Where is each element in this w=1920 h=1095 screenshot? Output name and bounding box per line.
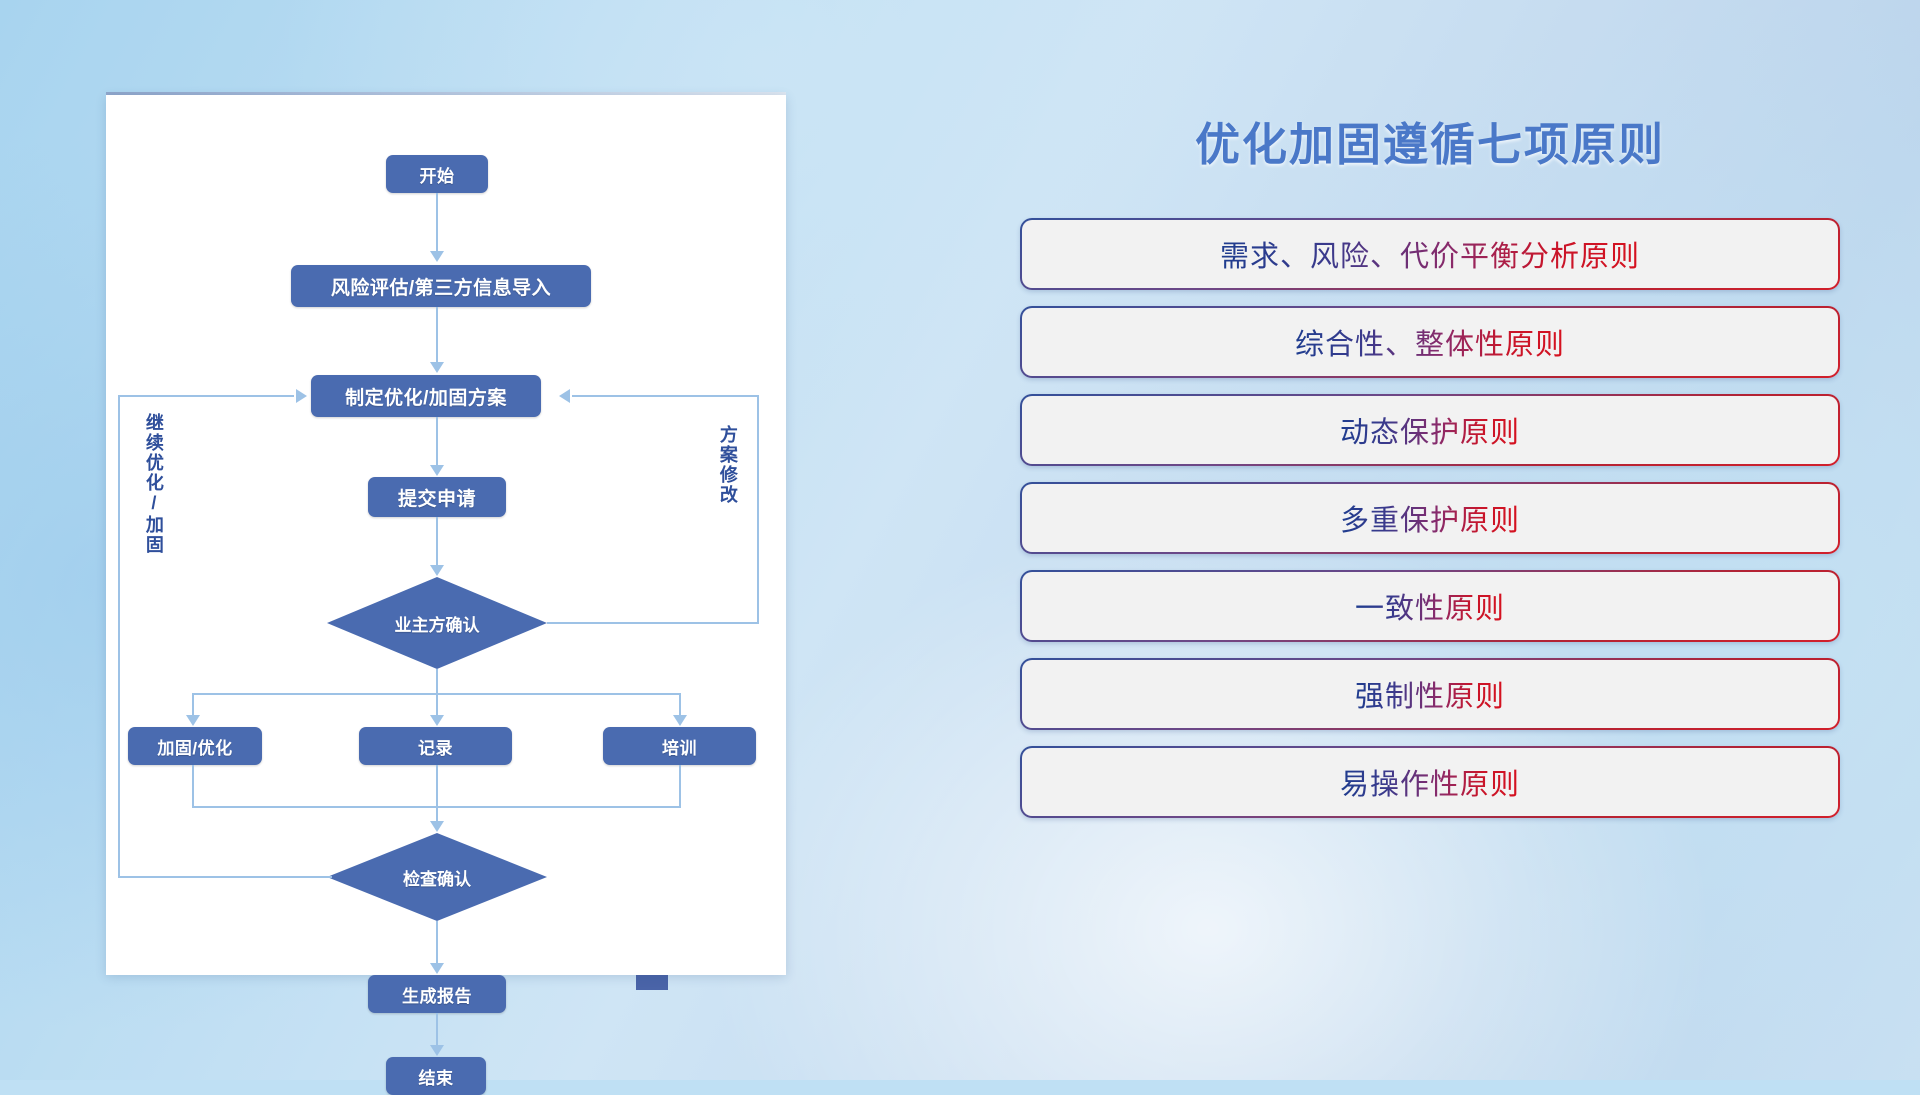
- flow-node-make-plan[interactable]: 制定优化/加固方案: [311, 375, 541, 417]
- connector-start-to-risk: [436, 193, 438, 258]
- flow-node-report-label: 生成报告: [402, 982, 472, 1007]
- arrowhead-risk-to-plan: [430, 362, 444, 373]
- principle-item-2[interactable]: 综合性、整体性原则: [1020, 306, 1840, 378]
- arrowhead-left-loop-to-plan: [296, 389, 307, 403]
- flow-decision-inspection-label: 检查确认: [403, 865, 471, 890]
- flow-node-reinforce-label: 加固/优化: [157, 734, 232, 759]
- flow-node-training[interactable]: 培训: [603, 727, 756, 765]
- arrowhead-plan-to-submit: [430, 465, 444, 476]
- principle-item-4[interactable]: 多重保护原则: [1020, 482, 1840, 554]
- principles-list: 需求、风险、代价平衡分析原则 综合性、整体性原则 动态保护原则 多重保护原则: [1020, 218, 1840, 834]
- principle-item-1[interactable]: 需求、风险、代价平衡分析原则: [1020, 218, 1840, 290]
- arrowhead-right-loop-to-plan: [559, 389, 570, 403]
- principle-label-5: 一致性原则: [1355, 585, 1505, 627]
- principle-label-7: 易操作性原则: [1340, 761, 1520, 803]
- arrowhead-check-to-report: [430, 963, 444, 974]
- principle-inner: 综合性、整体性原则: [1022, 308, 1838, 376]
- merge-riser-train: [679, 765, 681, 808]
- connector-submit-to-owner: [436, 517, 438, 572]
- flow-node-submit-label: 提交申请: [398, 484, 476, 511]
- flow-decision-owner-confirm[interactable]: 业主方确认: [327, 577, 547, 669]
- connector-check-to-report: [436, 921, 438, 969]
- principle-inner: 强制性原则: [1022, 660, 1838, 728]
- flow-node-record[interactable]: 记录: [359, 727, 512, 765]
- right-loop-top: [572, 395, 759, 397]
- principle-item-3[interactable]: 动态保护原则: [1020, 394, 1840, 466]
- connector-plan-to-submit: [436, 417, 438, 472]
- merge-riser-reinforce: [192, 765, 194, 808]
- left-loop-label: 继续优化/加固: [144, 413, 163, 555]
- arrowhead-submit-to-owner: [430, 565, 444, 576]
- flow-node-reinforce[interactable]: 加固/优化: [128, 727, 262, 765]
- arrowhead-report-to-end: [430, 1045, 444, 1056]
- principle-item-6[interactable]: 强制性原则: [1020, 658, 1840, 730]
- flow-node-risk-assessment-label: 风险评估/第三方信息导入: [331, 273, 551, 300]
- flow-node-training-label: 培训: [662, 734, 697, 759]
- arrowhead-start-to-risk: [430, 251, 444, 262]
- flow-decision-inspection[interactable]: 检查确认: [327, 833, 547, 921]
- principle-inner: 一致性原则: [1022, 572, 1838, 640]
- flow-node-end[interactable]: 结束: [386, 1057, 486, 1095]
- flow-node-record-label: 记录: [418, 734, 453, 759]
- principle-label-4: 多重保护原则: [1340, 497, 1520, 539]
- left-loop-top: [118, 395, 294, 397]
- principle-inner: 动态保护原则: [1022, 396, 1838, 464]
- flow-node-end-label: 结束: [419, 1064, 454, 1089]
- left-loop-bottom: [118, 876, 332, 878]
- right-loop-label: 方案修改: [718, 425, 737, 505]
- principle-label-3: 动态保护原则: [1340, 409, 1520, 451]
- arrowhead-branch-record: [430, 715, 444, 726]
- right-loop-riser: [757, 395, 759, 624]
- panel-title: 优化加固遵循七项原则: [1020, 108, 1840, 173]
- principle-inner: 多重保护原则: [1022, 484, 1838, 552]
- flow-node-start[interactable]: 开始: [386, 155, 488, 193]
- right-loop-bottom: [547, 622, 759, 624]
- slide-canvas: 开始 风险评估/第三方信息导入 制定优化/加固方案 提交申请: [0, 0, 1920, 1080]
- principle-label-6: 强制性原则: [1355, 673, 1505, 715]
- principles-panel: 优化加固遵循七项原则 需求、风险、代价平衡分析原则 综合性、整体性原则 动态保护…: [1020, 90, 1840, 1010]
- connector-owner-to-bus: [436, 669, 438, 695]
- flow-node-risk-assessment[interactable]: 风险评估/第三方信息导入: [291, 265, 591, 307]
- principle-inner: 易操作性原则: [1022, 748, 1838, 816]
- flowchart: 开始 风险评估/第三方信息导入 制定优化/加固方案 提交申请: [106, 95, 786, 975]
- principle-label-1: 需求、风险、代价平衡分析原则: [1220, 233, 1640, 275]
- connector-risk-to-plan: [436, 307, 438, 369]
- arrowhead-branch-reinforce: [186, 715, 200, 726]
- flow-node-submit[interactable]: 提交申请: [368, 477, 506, 517]
- flow-node-report[interactable]: 生成报告: [368, 975, 506, 1013]
- principle-item-5[interactable]: 一致性原则: [1020, 570, 1840, 642]
- arrowhead-branch-train: [673, 715, 687, 726]
- flow-node-make-plan-label: 制定优化/加固方案: [345, 383, 507, 410]
- connector-record-to-check: [436, 765, 438, 827]
- principle-inner: 需求、风险、代价平衡分析原则: [1022, 220, 1838, 288]
- principle-label-2: 综合性、整体性原则: [1295, 321, 1565, 363]
- flow-decision-owner-confirm-label: 业主方确认: [395, 611, 480, 636]
- principle-item-7[interactable]: 易操作性原则: [1020, 746, 1840, 818]
- arrowhead-to-check: [430, 821, 444, 832]
- left-loop-riser: [118, 395, 120, 878]
- flow-node-start-label: 开始: [420, 162, 455, 187]
- flowchart-card: 开始 风险评估/第三方信息导入 制定优化/加固方案 提交申请: [106, 95, 786, 975]
